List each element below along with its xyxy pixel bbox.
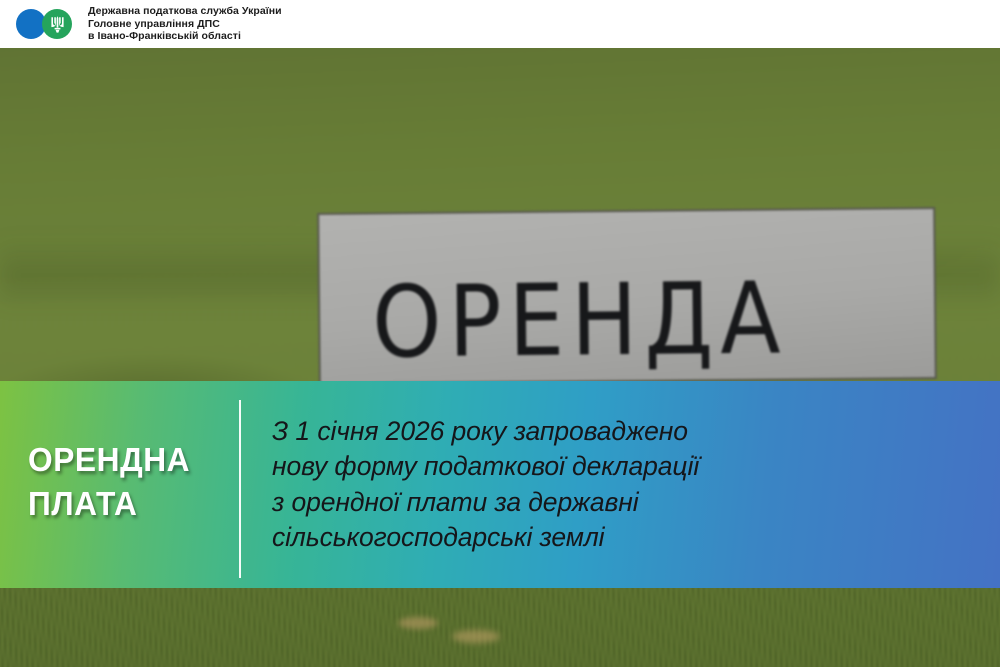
banner-body-line-2: нову форму податкової декларації [272,449,980,484]
logo-green-circle-icon [42,9,72,39]
tryzub-icon [50,15,65,34]
banner-body-line-4: сільськогосподарські землі [272,520,980,555]
organization-name: Державна податкова служба України Головн… [88,5,282,42]
banner-body-line-3: з орендної плати за державні [272,485,980,520]
dps-logo [16,9,78,39]
gradient-banner: ОРЕНДНА ПЛАТА З 1 січня 2026 року запров… [0,381,1000,588]
banner-title-block: ОРЕНДНА ПЛАТА [0,438,239,531]
site-header: Державна податкова служба України Головн… [0,0,1000,48]
banner-body-text: З 1 січня 2026 року запроваджено нову фо… [272,414,980,555]
banner-title-line-1: ОРЕНДНА [28,438,231,482]
banner-title-line-2: ПЛАТА [28,482,231,526]
org-line-3: в Івано-Франківській області [88,30,282,42]
infographic-page: Державна податкова служба України Головн… [0,0,1000,667]
banner-body-block: З 1 січня 2026 року запроваджено нову фо… [239,414,1000,555]
banner-vertical-divider [239,400,241,578]
org-line-2: Головне управління ДПС [88,18,282,30]
orenda-sign-board: ОРЕНДА [317,207,937,385]
sign-board-text: ОРЕНДА [372,260,788,379]
banner-body-line-1: З 1 січня 2026 року запроваджено [272,414,980,449]
dry-grass-patch-1 [398,617,438,629]
org-line-1: Державна податкова служба України [88,5,282,17]
dry-grass-patch-2 [452,630,500,643]
